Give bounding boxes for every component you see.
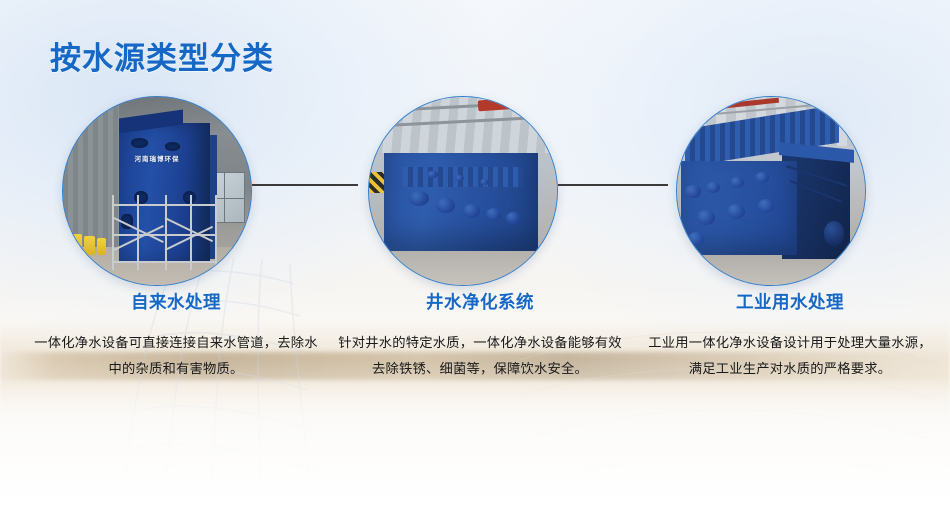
card-well-water: 井水净化系统 针对井水的特定水质，一体化净水设备能够有效去除铁锈、细菌等，保障饮… (330, 290, 630, 382)
card-tap-water: 自来水处理 一体化净水设备可直接连接自来水管道，去除水中的杂质和有害物质。 (26, 290, 326, 382)
tank-brand-label: 河南瑞博环保 (134, 153, 179, 163)
card-description-tap-water: 一体化净水设备可直接连接自来水管道，去除水中的杂质和有害物质。 (26, 330, 326, 382)
card-title-tap-water: 自来水处理 (26, 290, 326, 314)
card-industrial-water: 工业用水处理 工业用一体化净水设备设计用于处理大量水源，满足工业生产对水质的严格… (640, 290, 940, 382)
photo-circle-tap-water[interactable]: 河南瑞博环保 (62, 96, 252, 286)
card-title-well-water: 井水净化系统 (330, 290, 630, 314)
slide-canvas: 按水源类型分类 河南瑞博环保 (0, 0, 950, 510)
water-treatment-tank-photo: 河南瑞博环保 (63, 97, 251, 285)
well-water-purification-tank-photo (369, 97, 557, 285)
scaffolding-icon (112, 195, 217, 270)
photo-circle-row: 河南瑞博环保 (0, 0, 950, 300)
card-description-industrial-water: 工业用一体化净水设备设计用于处理大量水源，满足工业生产对水质的严格要求。 (640, 330, 940, 382)
card-title-industrial-water: 工业用水处理 (640, 290, 940, 314)
photo-circle-well-water[interactable] (368, 96, 558, 286)
card-description-well-water: 针对井水的特定水质，一体化净水设备能够有效去除铁锈、细菌等，保障饮水安全。 (330, 330, 630, 382)
photo-circle-industrial-water[interactable] (676, 96, 866, 286)
industrial-water-treatment-tank-photo (677, 97, 865, 285)
card-text-row: 自来水处理 一体化净水设备可直接连接自来水管道，去除水中的杂质和有害物质。 井水… (0, 290, 950, 450)
